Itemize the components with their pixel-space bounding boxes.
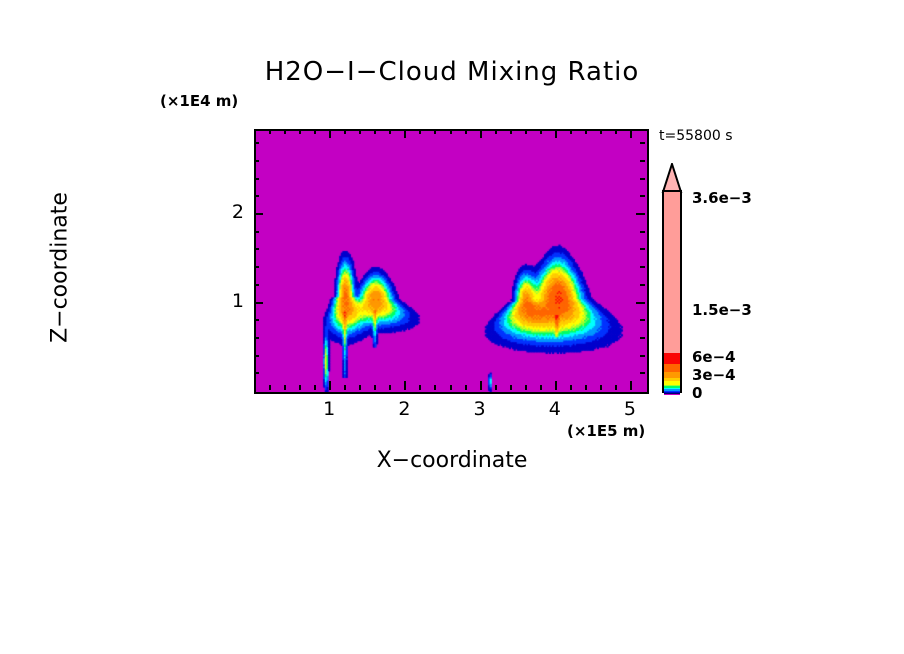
tick-mark [640, 337, 645, 339]
tick-mark [465, 129, 467, 134]
tick-mark [636, 213, 645, 215]
tick-mark [495, 385, 497, 390]
tick-mark [314, 385, 316, 390]
tick-mark [510, 129, 512, 134]
tick-mark [419, 385, 421, 390]
contour-field [256, 131, 647, 392]
tick-mark [630, 381, 632, 390]
colorbar-band [664, 364, 680, 373]
tick-mark [254, 355, 259, 357]
tick-mark [299, 129, 301, 134]
tick-mark [630, 129, 632, 138]
tick-mark [640, 372, 645, 374]
tick-mark [450, 385, 452, 390]
x-tick-label: 4 [535, 398, 575, 420]
tick-mark [640, 142, 645, 144]
tick-mark [389, 385, 391, 390]
tick-mark [615, 129, 617, 134]
tick-mark [374, 129, 376, 134]
tick-mark [254, 337, 259, 339]
tick-mark [269, 385, 271, 390]
tick-mark [284, 385, 286, 390]
tick-mark [254, 142, 259, 144]
tick-mark [525, 129, 527, 134]
y-tick-label: 2 [204, 201, 244, 223]
tick-mark [600, 385, 602, 390]
tick-mark [615, 385, 617, 390]
tick-mark [254, 284, 259, 286]
tick-mark [640, 284, 645, 286]
tick-mark [640, 178, 645, 180]
tick-mark [570, 129, 572, 134]
time-annotation: t=55800 s [659, 128, 733, 144]
tick-mark [254, 231, 259, 233]
tick-mark [254, 248, 259, 250]
tick-mark [344, 129, 346, 134]
tick-mark [254, 319, 259, 321]
colorbar-band [664, 394, 680, 395]
tick-mark [555, 129, 557, 138]
tick-mark [329, 381, 331, 390]
tick-mark [555, 381, 557, 390]
tick-mark [480, 381, 482, 390]
x-axis-multiplier-label: (×1E5 m) [567, 422, 645, 440]
colorbar-band [664, 353, 680, 363]
tick-mark [404, 381, 406, 390]
x-tick-label: 3 [460, 398, 500, 420]
tick-mark [254, 372, 259, 374]
tick-mark [495, 129, 497, 134]
colorbar-tick-label: 6e−4 [692, 348, 736, 366]
tick-mark [570, 385, 572, 390]
tick-mark [585, 385, 587, 390]
tick-mark [284, 129, 286, 134]
tick-mark [359, 129, 361, 134]
x-tick-label: 2 [384, 398, 424, 420]
colorbar-band [664, 192, 680, 353]
y-axis-multiplier-label: (×1E4 m) [160, 92, 238, 110]
tick-mark [510, 385, 512, 390]
tick-mark [465, 385, 467, 390]
x-axis-label: X−coordinate [0, 448, 904, 473]
colorbar-tick-label: 3e−4 [692, 366, 736, 384]
tick-mark [344, 385, 346, 390]
tick-mark [374, 385, 376, 390]
tick-mark [540, 385, 542, 390]
tick-mark [640, 319, 645, 321]
tick-mark [269, 129, 271, 134]
colorbar [662, 163, 684, 395]
tick-mark [254, 178, 259, 180]
tick-mark [636, 302, 645, 304]
tick-mark [525, 385, 527, 390]
colorbar-tick-label: 3.6e−3 [692, 189, 752, 207]
tick-mark [359, 385, 361, 390]
page-title: H2O−I−Cloud Mixing Ratio [0, 57, 904, 87]
tick-mark [640, 248, 645, 250]
tick-mark [640, 160, 645, 162]
tick-mark [640, 231, 645, 233]
tick-mark [540, 129, 542, 134]
tick-mark [404, 129, 406, 138]
tick-mark [299, 385, 301, 390]
tick-mark [640, 266, 645, 268]
colorbar-tick-label: 1.5e−3 [692, 301, 752, 319]
tick-mark [480, 129, 482, 138]
contour-plot-area [254, 129, 649, 394]
tick-mark [389, 129, 391, 134]
tick-mark [585, 129, 587, 134]
tick-mark [254, 195, 259, 197]
tick-mark [640, 195, 645, 197]
tick-mark [254, 160, 259, 162]
colorbar-arrow-icon [661, 163, 683, 193]
tick-mark [254, 302, 263, 304]
tick-mark [600, 129, 602, 134]
tick-mark [314, 129, 316, 134]
tick-mark [434, 385, 436, 390]
x-tick-label: 5 [610, 398, 650, 420]
tick-mark [419, 129, 421, 134]
tick-mark [329, 129, 331, 138]
tick-mark [450, 129, 452, 134]
tick-mark [254, 266, 259, 268]
y-axis-label: Z−coordinate [48, 148, 73, 388]
tick-mark [640, 355, 645, 357]
y-tick-label: 1 [204, 290, 244, 312]
tick-mark [254, 213, 263, 215]
colorbar-bands [662, 190, 682, 393]
x-tick-label: 1 [309, 398, 349, 420]
colorbar-tick-label: 0 [692, 384, 702, 402]
tick-mark [434, 129, 436, 134]
